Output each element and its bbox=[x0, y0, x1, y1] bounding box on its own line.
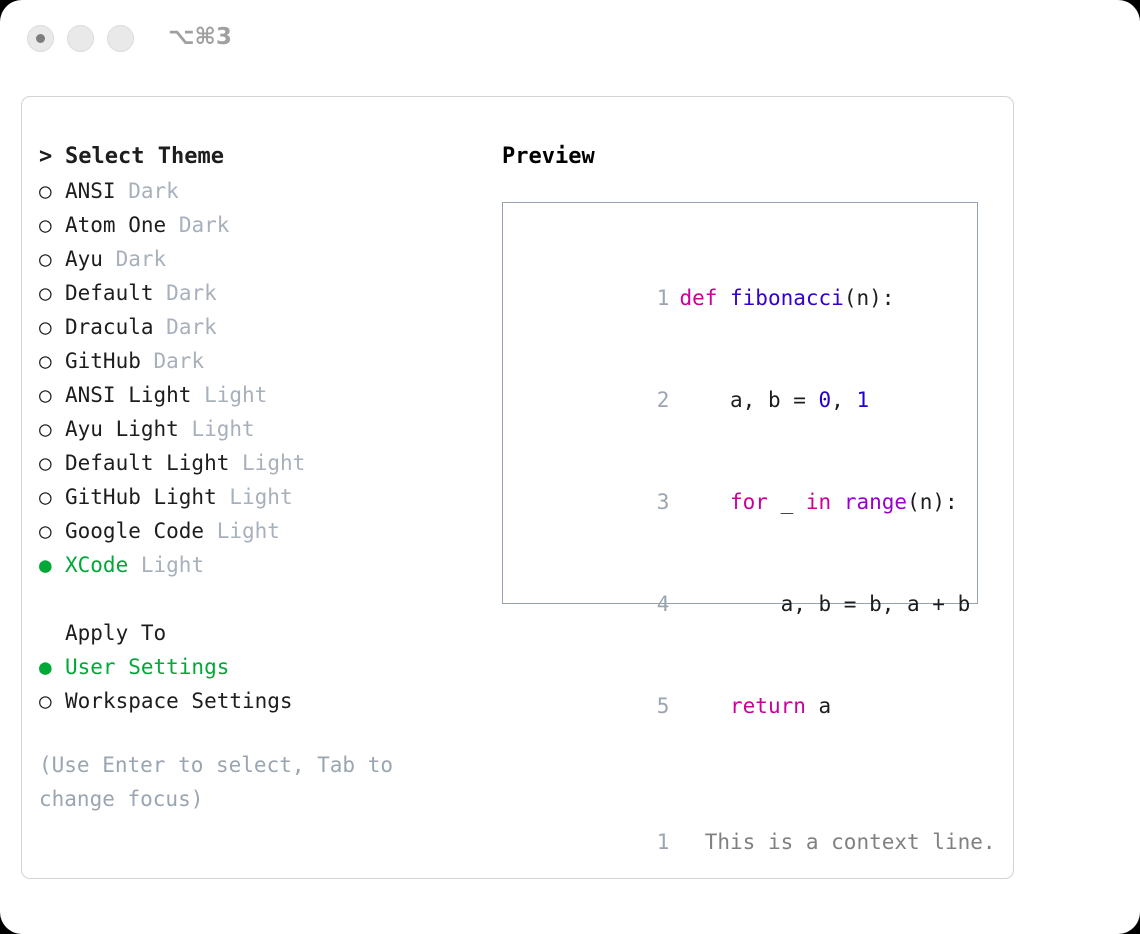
code-token-builtin: range bbox=[844, 490, 907, 514]
apply-to-label: User Settings bbox=[65, 655, 229, 679]
preview-panel: Preview 1def fibonacci(n): 2 a, b = 0, 1… bbox=[502, 140, 992, 604]
code-token-number: 1 bbox=[856, 388, 869, 412]
line-number: 1 bbox=[643, 281, 669, 315]
theme-name: Ayu Light bbox=[65, 417, 179, 441]
radio-icon: ○ bbox=[39, 310, 65, 344]
line-number: 1 bbox=[643, 825, 669, 859]
line-number: 4 bbox=[643, 587, 669, 621]
theme-list-item[interactable]: ○GitHub Dark bbox=[39, 344, 479, 378]
theme-name: GitHub Light bbox=[65, 485, 217, 509]
theme-mode-tag: Light bbox=[179, 417, 255, 441]
code-token-plain: (n): bbox=[907, 490, 958, 514]
theme-list-item[interactable]: ○Dracula Dark bbox=[39, 310, 479, 344]
theme-name: Google Code bbox=[65, 519, 204, 543]
theme-name: XCode bbox=[65, 553, 128, 577]
apply-to-label: Workspace Settings bbox=[65, 689, 293, 713]
diff-text: This is a context line. bbox=[692, 830, 995, 854]
theme-list-header-label: Select Theme bbox=[65, 144, 224, 169]
caret-icon: > bbox=[39, 140, 65, 174]
window-dot-second[interactable] bbox=[67, 25, 94, 52]
diff-line-context: 1 This is a context line. bbox=[517, 791, 977, 893]
code-token-keyword: in bbox=[806, 490, 831, 514]
radio-icon: ○ bbox=[39, 480, 65, 514]
radio-icon: ○ bbox=[39, 514, 65, 548]
code-token-plain: , bbox=[831, 388, 856, 412]
apply-to-header-label: Apply To bbox=[65, 621, 166, 645]
theme-list-item[interactable]: ○ANSI Light Light bbox=[39, 378, 479, 412]
code-token-plain: a bbox=[806, 694, 831, 718]
theme-name: Default Light bbox=[65, 451, 229, 475]
code-line: 1def fibonacci(n): bbox=[517, 247, 977, 349]
theme-list-item[interactable]: ○Default Dark bbox=[39, 276, 479, 310]
theme-mode-tag: Dark bbox=[116, 179, 179, 203]
theme-mode-tag: Dark bbox=[166, 213, 229, 237]
theme-list-item[interactable]: ○Ayu Dark bbox=[39, 242, 479, 276]
apply-to-item-user-settings[interactable]: ●User Settings bbox=[39, 650, 479, 684]
theme-list-item-selected[interactable]: ●XCode Light bbox=[39, 548, 479, 582]
window-controls bbox=[27, 25, 134, 52]
apply-to-header: Apply To bbox=[39, 616, 479, 650]
theme-list-item[interactable]: ○Google Code Light bbox=[39, 514, 479, 548]
code-diff-spacer bbox=[517, 757, 977, 791]
code-token-plain: (n): bbox=[844, 286, 895, 310]
theme-mode-tag: Dark bbox=[154, 315, 217, 339]
theme-mode-tag: Dark bbox=[141, 349, 204, 373]
window-dot-active-indicator bbox=[36, 34, 45, 43]
theme-mode-tag: Light bbox=[217, 485, 293, 509]
theme-name: Dracula bbox=[65, 315, 154, 339]
radio-icon: ○ bbox=[39, 174, 65, 208]
code-line: 3 for _ in range(n): bbox=[517, 451, 977, 553]
code-line: 2 a, b = 0, 1 bbox=[517, 349, 977, 451]
line-number: 5 bbox=[643, 689, 669, 723]
diff-line-deleted: 2- This line was deleted. bbox=[517, 893, 977, 934]
code-token-plain bbox=[831, 490, 844, 514]
theme-list-item[interactable]: ○ANSI Dark bbox=[39, 174, 479, 208]
theme-name: GitHub bbox=[65, 349, 141, 373]
theme-mode-tag: Light bbox=[229, 451, 305, 475]
line-number: 2 bbox=[643, 927, 669, 934]
line-number: 3 bbox=[643, 485, 669, 519]
window-dot-active[interactable] bbox=[27, 25, 54, 52]
window-dot-third[interactable] bbox=[107, 25, 134, 52]
code-token-plain: a, b = bbox=[679, 388, 818, 412]
keyboard-hint-text: (Use Enter to select, Tab to change focu… bbox=[39, 748, 439, 816]
preview-code-box: 1def fibonacci(n): 2 a, b = 0, 1 3 for _… bbox=[502, 202, 978, 604]
theme-mode-tag: Light bbox=[191, 383, 267, 407]
theme-mode-tag: Dark bbox=[103, 247, 166, 271]
theme-list-item[interactable]: ○Ayu Light Light bbox=[39, 412, 479, 446]
radio-icon: ○ bbox=[39, 684, 65, 718]
code-token-plain: a, b = b, a + b bbox=[679, 592, 970, 616]
code-line: 5 return a bbox=[517, 655, 977, 757]
theme-name: ANSI bbox=[65, 179, 116, 203]
line-number: 2 bbox=[643, 383, 669, 417]
code-token-plain bbox=[679, 490, 730, 514]
theme-list-item[interactable]: ○Default Light Light bbox=[39, 446, 479, 480]
radio-icon-selected: ● bbox=[39, 548, 65, 582]
radio-icon: ○ bbox=[39, 208, 65, 242]
code-token-keyword: return bbox=[730, 694, 806, 718]
theme-name: Ayu bbox=[65, 247, 103, 271]
app-window: ⌥⌘3 >Select Theme ○ANSI Dark ○Atom One D… bbox=[0, 0, 1140, 934]
diff-sign bbox=[679, 830, 692, 854]
radio-icon: ○ bbox=[39, 446, 65, 480]
theme-list-item[interactable]: ○GitHub Light Light bbox=[39, 480, 479, 514]
radio-icon: ○ bbox=[39, 242, 65, 276]
theme-list: ○ANSI Dark ○Atom One Dark ○Ayu Dark ○Def… bbox=[39, 174, 479, 582]
theme-list-item[interactable]: ○Atom One Dark bbox=[39, 208, 479, 242]
theme-list-header: >Select Theme bbox=[39, 140, 479, 174]
code-token-plain: _ bbox=[768, 490, 806, 514]
theme-name: Atom One bbox=[65, 213, 166, 237]
radio-icon-selected: ● bbox=[39, 650, 65, 684]
code-line: 4 a, b = b, a + b bbox=[517, 553, 977, 655]
preview-title: Preview bbox=[502, 140, 992, 174]
radio-icon: ○ bbox=[39, 412, 65, 446]
code-token-plain bbox=[679, 694, 730, 718]
code-token-keyword: for bbox=[730, 490, 768, 514]
radio-icon: ○ bbox=[39, 378, 65, 412]
theme-mode-tag: Light bbox=[204, 519, 280, 543]
title-bar: ⌥⌘3 bbox=[0, 0, 1140, 78]
radio-icon: ○ bbox=[39, 344, 65, 378]
section-spacer bbox=[39, 582, 479, 616]
theme-mode-tag: Light bbox=[128, 553, 204, 577]
theme-mode-tag: Dark bbox=[154, 281, 217, 305]
theme-name: ANSI Light bbox=[65, 383, 191, 407]
keyboard-shortcut-label: ⌥⌘3 bbox=[168, 24, 232, 50]
radio-icon: ○ bbox=[39, 276, 65, 310]
apply-to-item-workspace-settings[interactable]: ○Workspace Settings bbox=[39, 684, 479, 718]
apply-to-panel: Apply To ●User Settings ○Workspace Setti… bbox=[39, 616, 479, 718]
code-token-number: 0 bbox=[819, 388, 832, 412]
code-token-keyword: def bbox=[679, 286, 730, 310]
code-token-function: fibonacci bbox=[730, 286, 844, 310]
theme-selection-panel: >Select Theme ○ANSI Dark ○Atom One Dark … bbox=[39, 140, 479, 816]
dialog-card: >Select Theme ○ANSI Dark ○Atom One Dark … bbox=[21, 96, 1014, 879]
theme-name: Default bbox=[65, 281, 154, 305]
